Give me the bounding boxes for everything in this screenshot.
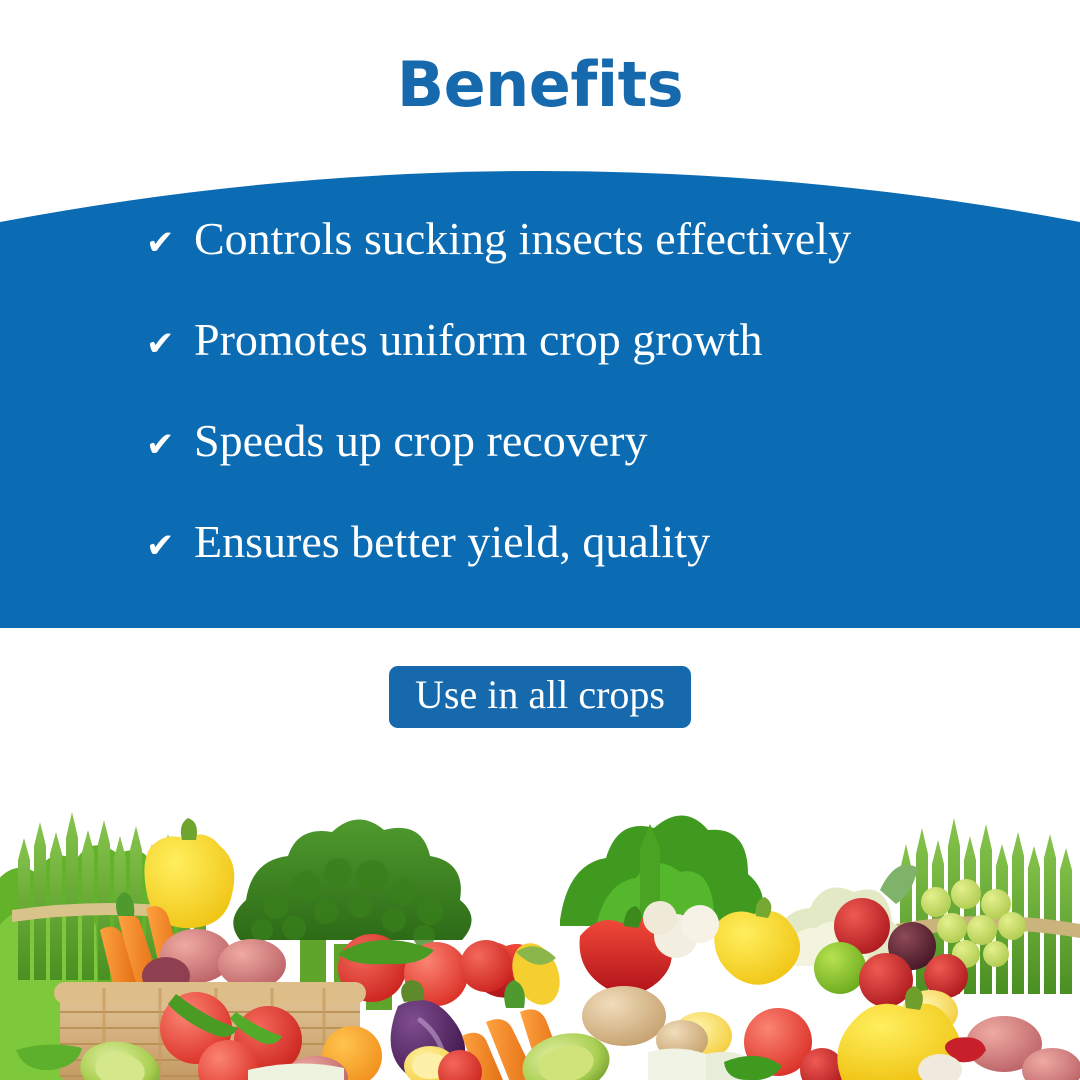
list-item: ✔ Speeds up crop recovery	[0, 418, 1080, 519]
benefits-poster: Benefits ✔ Controls sucking insects effe…	[0, 0, 1080, 1080]
benefit-label: Speeds up crop recovery	[194, 418, 647, 464]
list-item: ✔ Controls sucking insects effectively	[0, 216, 1080, 317]
list-item: ✔ Ensures better yield, quality	[0, 519, 1080, 620]
benefits-list: ✔ Controls sucking insects effectively ✔…	[0, 216, 1080, 620]
check-icon: ✔	[146, 428, 194, 462]
check-icon: ✔	[146, 226, 194, 260]
benefit-label: Controls sucking insects effectively	[194, 216, 851, 262]
list-item: ✔ Promotes uniform crop growth	[0, 317, 1080, 418]
badge-container: Use in all crops	[0, 666, 1080, 728]
page-title-container: Benefits	[0, 40, 1080, 130]
check-icon: ✔	[146, 327, 194, 361]
use-in-all-crops-badge: Use in all crops	[389, 666, 691, 728]
check-icon: ✔	[146, 529, 194, 563]
benefit-label: Promotes uniform crop growth	[194, 317, 763, 363]
vegetables-photo	[0, 740, 1080, 1080]
benefit-label: Ensures better yield, quality	[194, 519, 710, 565]
page-title: Benefits	[397, 54, 683, 116]
